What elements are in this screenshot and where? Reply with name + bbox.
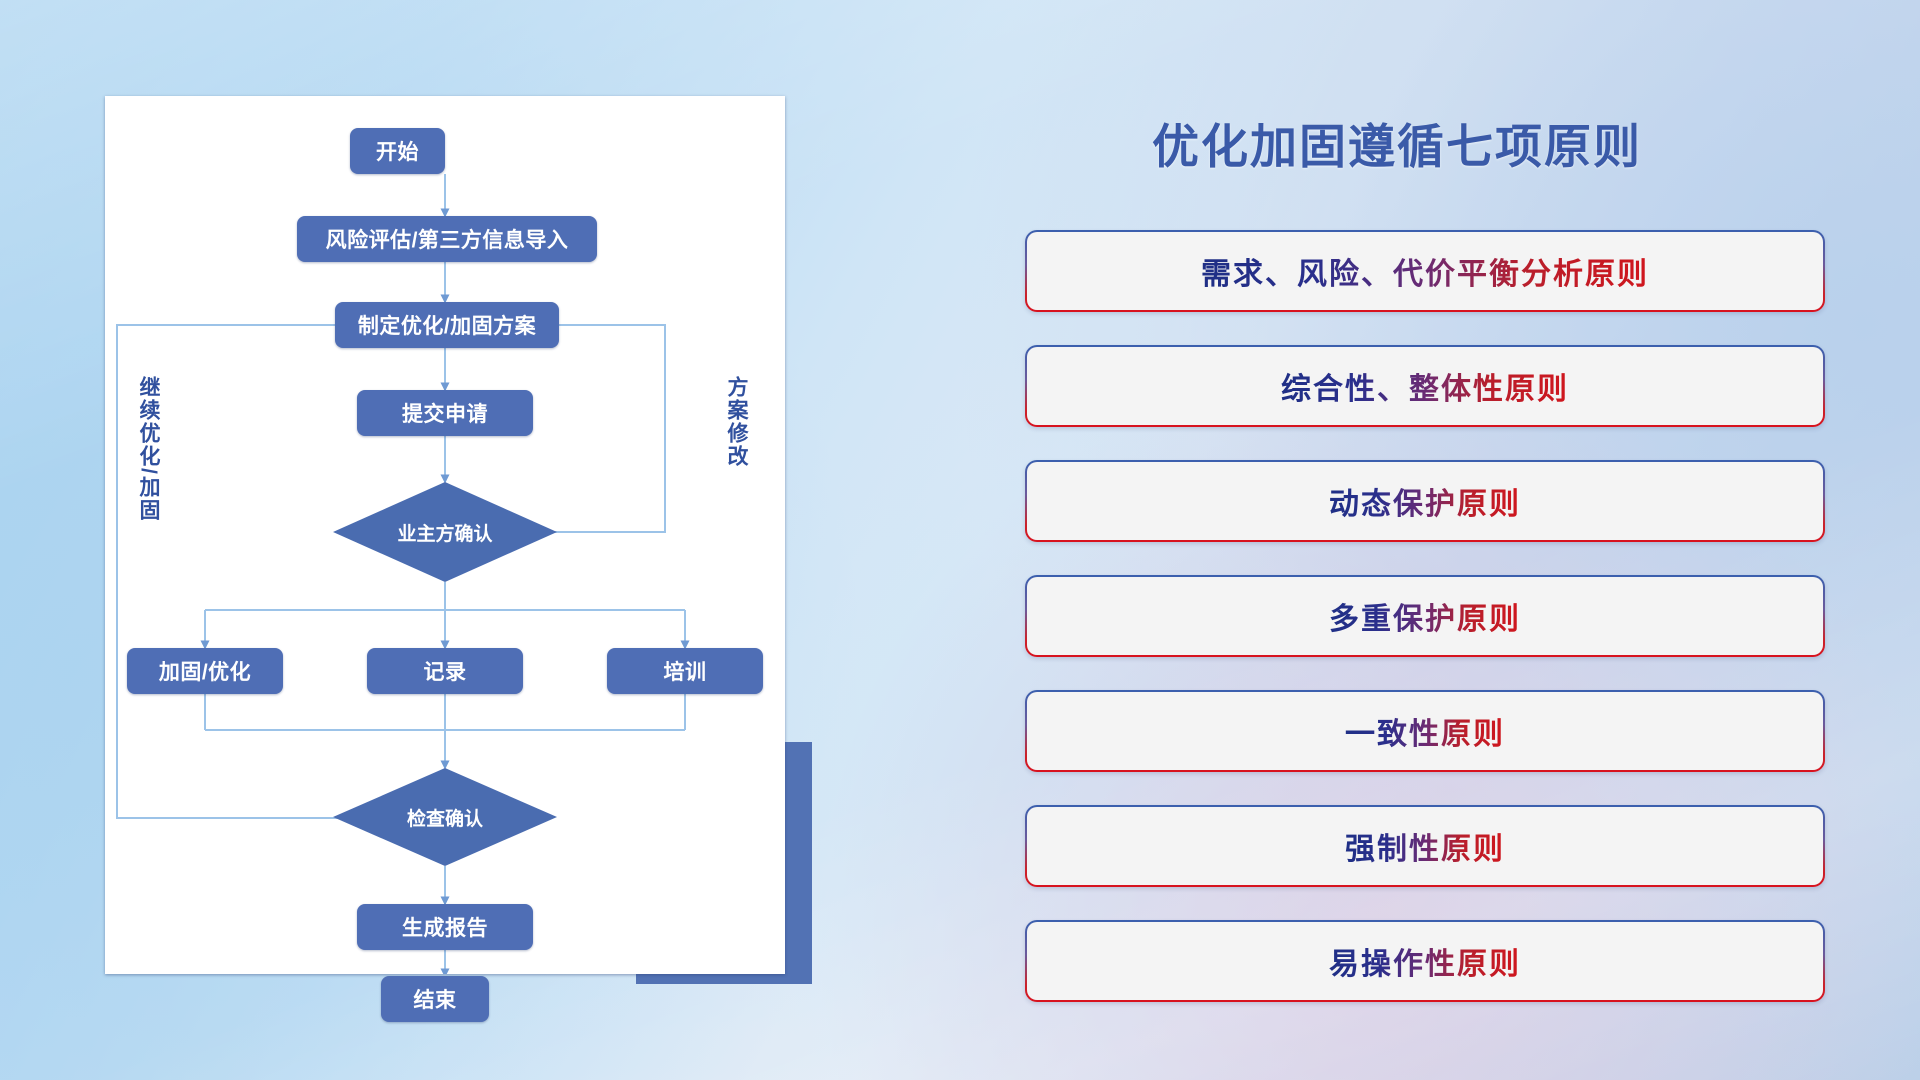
flow-node-label: 加固/优化 [159,656,251,686]
principle-label: 动态保护原则 [1329,479,1521,523]
principle-label: 易操作性原则 [1329,939,1521,983]
principle-card-inner: 综合性、整体性原则 [1027,347,1823,425]
principle-card-inner: 易操作性原则 [1027,922,1823,1000]
principle-card[interactable]: 易操作性原则 [1025,920,1825,1002]
flow-node-generate-report[interactable]: 生成报告 [357,904,533,950]
principle-card[interactable]: 综合性、整体性原则 [1025,345,1825,427]
principle-label: 需求、风险、代价平衡分析原则 [1201,249,1649,293]
principle-card-inner: 多重保护原则 [1027,577,1823,655]
flow-node-label: 开始 [376,136,419,166]
flow-node-submit-application[interactable]: 提交申请 [357,390,533,436]
flow-node-label: 结束 [414,984,457,1014]
principle-label: 一致性原则 [1345,709,1505,753]
flow-decision-owner-confirm[interactable]: 业主方确认 [333,482,557,582]
principle-card-inner: 一致性原则 [1027,692,1823,770]
flow-node-label: 提交申请 [402,398,488,428]
principle-card-inner: 需求、风险、代价平衡分析原则 [1027,232,1823,310]
flow-node-training[interactable]: 培训 [607,648,763,694]
flow-decision-check-confirm[interactable]: 检查确认 [333,768,557,866]
flow-node-label: 业主方确认 [397,519,492,546]
page-title: 优化加固遵循七项原则 [1152,108,1642,177]
principle-card[interactable]: 需求、风险、代价平衡分析原则 [1025,230,1825,312]
flow-node-record[interactable]: 记录 [367,648,523,694]
principle-card[interactable]: 一致性原则 [1025,690,1825,772]
principle-label: 多重保护原则 [1329,594,1521,638]
flow-node-label: 风险评估/第三方信息导入 [326,224,569,254]
flow-node-label: 记录 [424,656,467,686]
principle-label: 强制性原则 [1345,824,1505,868]
edge-label-continue-optimize: 继续优化/加固 [133,376,163,522]
flowchart-card: 开始 风险评估/第三方信息导入 制定优化/加固方案 提交申请 业主方确认 加固/… [105,96,785,974]
principle-card-inner: 强制性原则 [1027,807,1823,885]
flow-node-label: 培训 [664,656,707,686]
flow-node-start[interactable]: 开始 [350,128,445,174]
flow-node-label: 制定优化/加固方案 [358,310,536,340]
flow-node-risk-assessment[interactable]: 风险评估/第三方信息导入 [297,216,597,262]
flow-node-plan[interactable]: 制定优化/加固方案 [335,302,559,348]
principle-card[interactable]: 强制性原则 [1025,805,1825,887]
principle-card-inner: 动态保护原则 [1027,462,1823,540]
principle-label: 综合性、整体性原则 [1281,364,1569,408]
principle-card[interactable]: 多重保护原则 [1025,575,1825,657]
flow-node-end[interactable]: 结束 [381,976,489,1022]
principle-card[interactable]: 动态保护原则 [1025,460,1825,542]
flow-node-label: 生成报告 [402,912,488,942]
edge-label-plan-revision: 方案修改 [721,376,751,468]
flow-node-reinforce[interactable]: 加固/优化 [127,648,283,694]
principles-list: 需求、风险、代价平衡分析原则 综合性、整体性原则 动态保护原则 多重保护原则 一… [1025,230,1825,1035]
flow-node-label: 检查确认 [407,804,483,831]
